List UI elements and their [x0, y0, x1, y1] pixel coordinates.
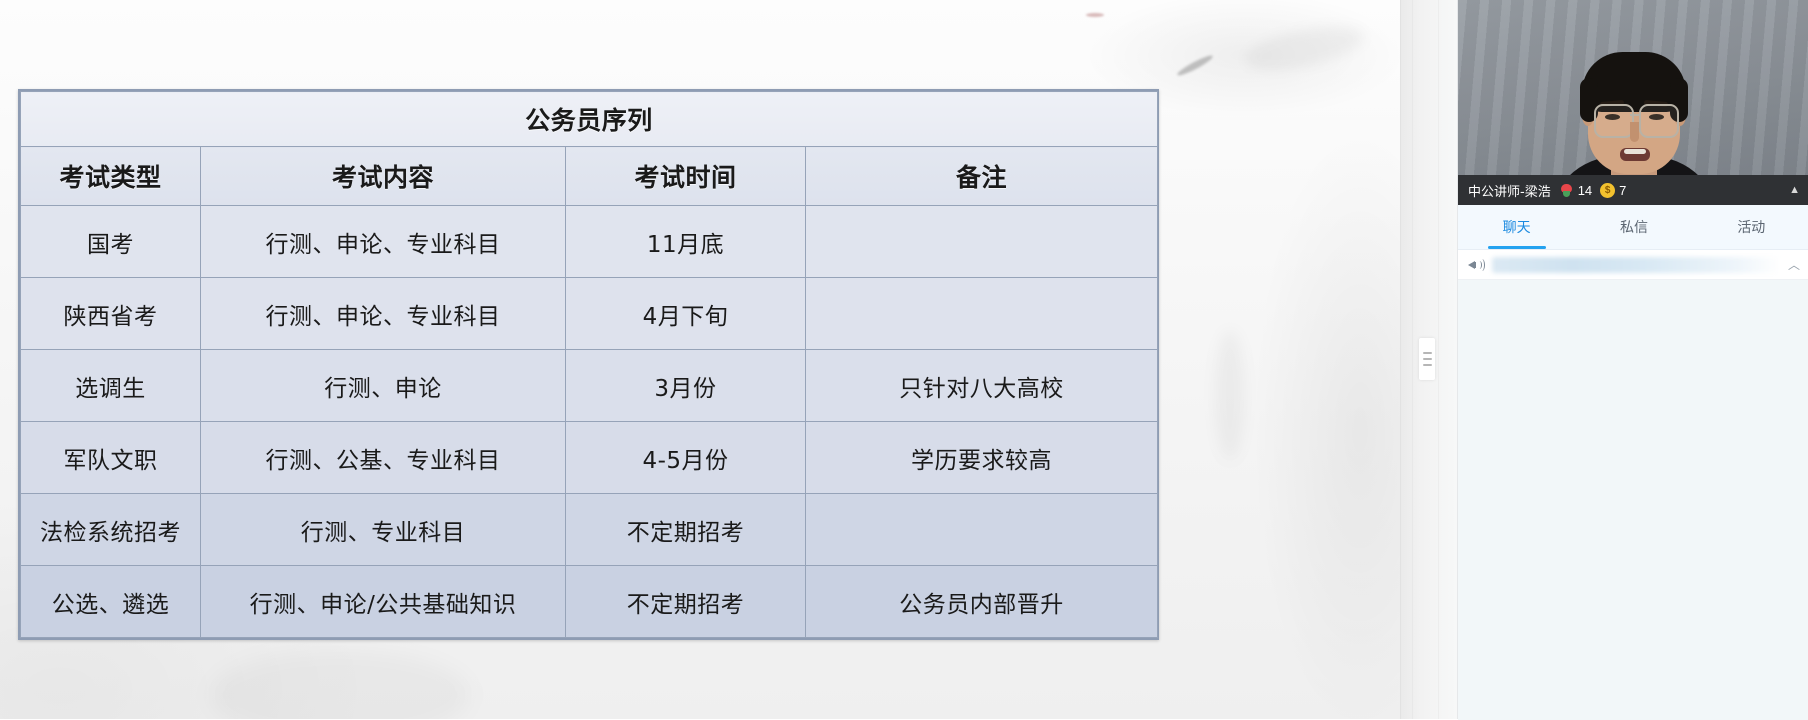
flower-icon: [1559, 183, 1574, 198]
cell-exam-type: 陕西省考: [21, 278, 201, 350]
cell-exam-type: 公选、遴选: [21, 566, 201, 638]
column-header-exam-time: 考试时间: [566, 147, 806, 206]
cell-remark: 只针对八大高校: [806, 350, 1158, 422]
presenter-video[interactable]: 中公讲师-梁浩 14 $ 7 ▲: [1458, 0, 1808, 205]
table-row: 军队文职 行测、公基、专业科目 4-5月份 学历要求较高: [21, 422, 1158, 494]
cell-exam-type: 法检系统招考: [21, 494, 201, 566]
cell-exam-content: 行测、申论、专业科目: [201, 278, 566, 350]
exam-table: 公务员序列 考试类型 考试内容 考试时间 备注 国考 行测、申论、专业科目 11…: [18, 89, 1159, 640]
cell-remark: 公务员内部晋升: [806, 566, 1158, 638]
cell-remark: [806, 278, 1158, 350]
column-header-exam-content: 考试内容: [201, 147, 566, 206]
table-title: 公务员序列: [21, 92, 1158, 147]
cell-exam-type: 军队文职: [21, 422, 201, 494]
tab-chat[interactable]: 聊天: [1458, 205, 1575, 249]
tab-private[interactable]: 私信: [1575, 205, 1692, 249]
coin-icon: $: [1600, 183, 1615, 198]
right-panel: 中公讲师-梁浩 14 $ 7 ▲ 聊天 私信 活动: [1457, 0, 1808, 719]
cell-exam-time: 4-5月份: [566, 422, 806, 494]
cell-exam-type: 选调生: [21, 350, 201, 422]
cell-remark: 学历要求较高: [806, 422, 1158, 494]
cell-exam-time: 3月份: [566, 350, 806, 422]
chat-tabbar: 聊天 私信 活动: [1458, 205, 1808, 250]
live-class-window: 公务员序列 考试类型 考试内容 考试时间 备注 国考 行测、申论、专业科目 11…: [0, 0, 1808, 719]
cell-exam-content: 行测、专业科目: [201, 494, 566, 566]
cell-remark: [806, 494, 1158, 566]
column-header-remark: 备注: [806, 147, 1158, 206]
tab-activity[interactable]: 活动: [1693, 205, 1808, 249]
cell-exam-content: 行测、申论: [201, 350, 566, 422]
slide-share-area[interactable]: 公务员序列 考试类型 考试内容 考试时间 备注 国考 行测、申论、专业科目 11…: [0, 0, 1400, 719]
table-row: 国考 行测、申论、专业科目 11月底: [21, 206, 1158, 278]
table-row: 选调生 行测、申论 3月份 只针对八大高校: [21, 350, 1158, 422]
table-header-row: 考试类型 考试内容 考试时间 备注: [21, 147, 1158, 206]
cell-exam-time: 4月下旬: [566, 278, 806, 350]
cell-remark: [806, 206, 1158, 278]
notice-text: [1492, 257, 1780, 273]
table-row: 法检系统招考 行测、专业科目 不定期招考: [21, 494, 1158, 566]
flower-count: 14: [1578, 183, 1592, 198]
panel-splitter[interactable]: [1400, 0, 1457, 719]
cell-exam-content: 行测、公基、专业科目: [201, 422, 566, 494]
cell-exam-content: 行测、申论/公共基础知识: [201, 566, 566, 638]
collapse-video-icon[interactable]: ▲: [1789, 184, 1800, 196]
cell-exam-content: 行测、申论、专业科目: [201, 206, 566, 278]
speaker-icon: [1468, 258, 1484, 272]
chat-message-list[interactable]: [1458, 280, 1808, 720]
cell-exam-time: 不定期招考: [566, 494, 806, 566]
chevron-up-icon[interactable]: ︿: [1788, 256, 1800, 273]
drag-handle-icon[interactable]: [1419, 338, 1435, 380]
table-title-row: 公务员序列: [21, 92, 1158, 147]
cell-exam-time: 不定期招考: [566, 566, 806, 638]
cell-exam-time: 11月底: [566, 206, 806, 278]
table-row: 陕西省考 行测、申论、专业科目 4月下旬: [21, 278, 1158, 350]
table-row: 公选、遴选 行测、申论/公共基础知识 不定期招考 公务员内部晋升: [21, 566, 1158, 638]
presenter-name: 中公讲师-梁浩: [1468, 181, 1551, 200]
coin-stat: $ 7: [1600, 183, 1626, 198]
column-header-exam-type: 考试类型: [21, 147, 201, 206]
presenter-nameplate: 中公讲师-梁浩 14 $ 7 ▲: [1458, 175, 1808, 205]
cell-exam-type: 国考: [21, 206, 201, 278]
notice-bar[interactable]: ︿: [1458, 250, 1808, 280]
splitter-edge-line2: [1438, 0, 1439, 719]
coin-count: 7: [1619, 183, 1626, 198]
flower-stat: 14: [1559, 183, 1592, 198]
splitter-edge-line: [1412, 0, 1413, 719]
